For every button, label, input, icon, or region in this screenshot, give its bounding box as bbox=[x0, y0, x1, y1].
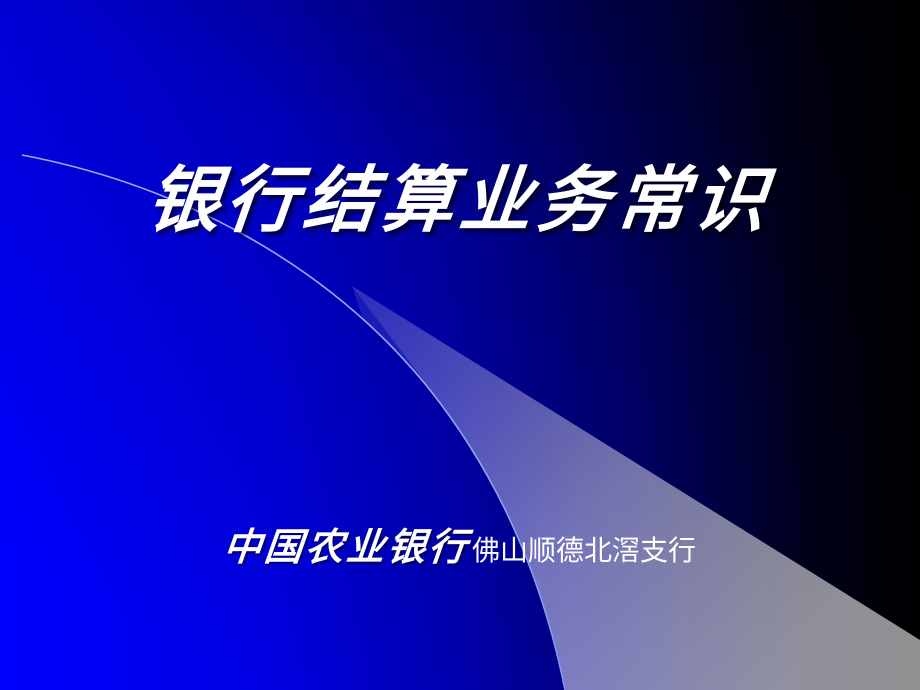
presentation-slide: 银行结算业务常识 中国农业银行佛山顺德北滘支行 bbox=[0, 0, 920, 690]
slide-background bbox=[0, 0, 920, 690]
